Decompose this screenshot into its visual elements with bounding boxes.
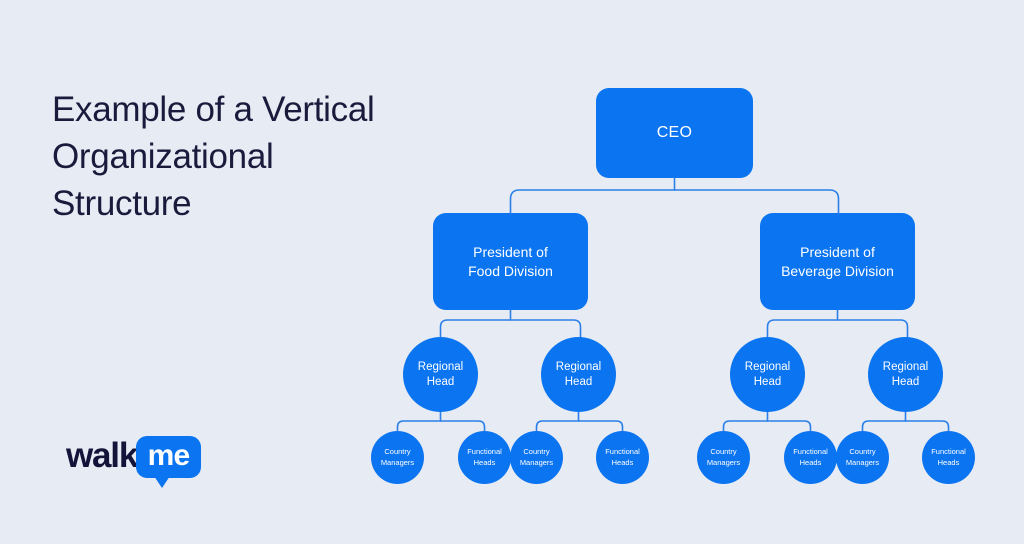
org-node-country-managers-4[interactable]: Country Managers [836,431,889,484]
org-node-president-food-division[interactable]: President of Food Division [433,213,588,310]
page-title: Example of a Vertical Organizational Str… [52,86,472,227]
org-node-regional-head-2[interactable]: Regional Head [541,337,616,412]
org-node-president-beverage-division[interactable]: President of Beverage Division [760,213,915,310]
walkme-logo-bubble-text: me [136,436,201,478]
slide-canvas: Example of a Vertical Organizational Str… [0,0,1024,544]
org-node-functional-heads-2[interactable]: Functional Heads [596,431,649,484]
org-node-ceo[interactable]: CEO [596,88,753,178]
org-node-country-managers-3[interactable]: Country Managers [697,431,750,484]
org-node-regional-head-3[interactable]: Regional Head [730,337,805,412]
walkme-logo: walk me [66,432,206,488]
org-node-country-managers-1[interactable]: Country Managers [371,431,424,484]
org-node-regional-head-4[interactable]: Regional Head [868,337,943,412]
org-node-functional-heads-1[interactable]: Functional Heads [458,431,511,484]
walkme-logo-wordmark: walk [66,438,137,473]
org-node-country-managers-2[interactable]: Country Managers [510,431,563,484]
org-node-functional-heads-3[interactable]: Functional Heads [784,431,837,484]
org-node-functional-heads-4[interactable]: Functional Heads [922,431,975,484]
org-node-regional-head-1[interactable]: Regional Head [403,337,478,412]
